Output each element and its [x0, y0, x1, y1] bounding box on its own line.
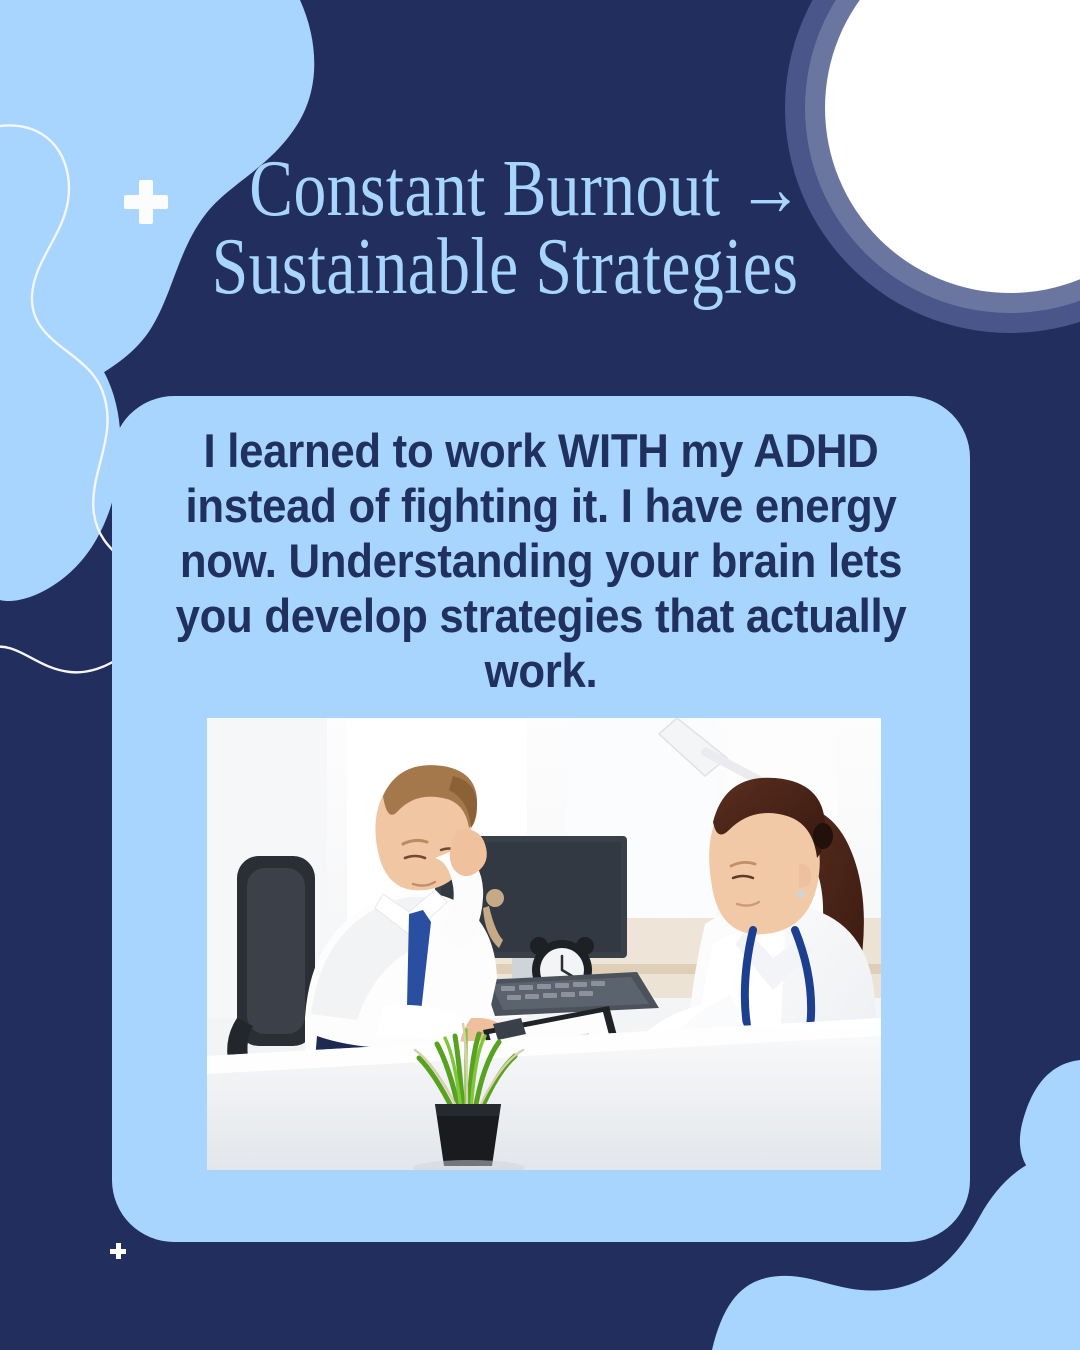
- consultation-photo: [207, 718, 881, 1170]
- title-line-1: Constant Burnout →: [91, 150, 919, 228]
- plus-icon-small: [110, 1243, 126, 1259]
- quote-text: I learned to work WITH my ADHD instead o…: [168, 424, 914, 699]
- poster-canvas: Constant Burnout → Sustainable Strategie…: [0, 0, 1080, 1350]
- header: Constant Burnout → Sustainable Strategie…: [0, 150, 1010, 307]
- title-line-2: Sustainable Strategies: [91, 228, 919, 306]
- plus-icon: [124, 180, 168, 224]
- photo-illustration: [207, 718, 881, 1170]
- office-chair-graphic: [227, 856, 315, 1074]
- quote-card: I learned to work WITH my ADHD instead o…: [112, 396, 970, 1242]
